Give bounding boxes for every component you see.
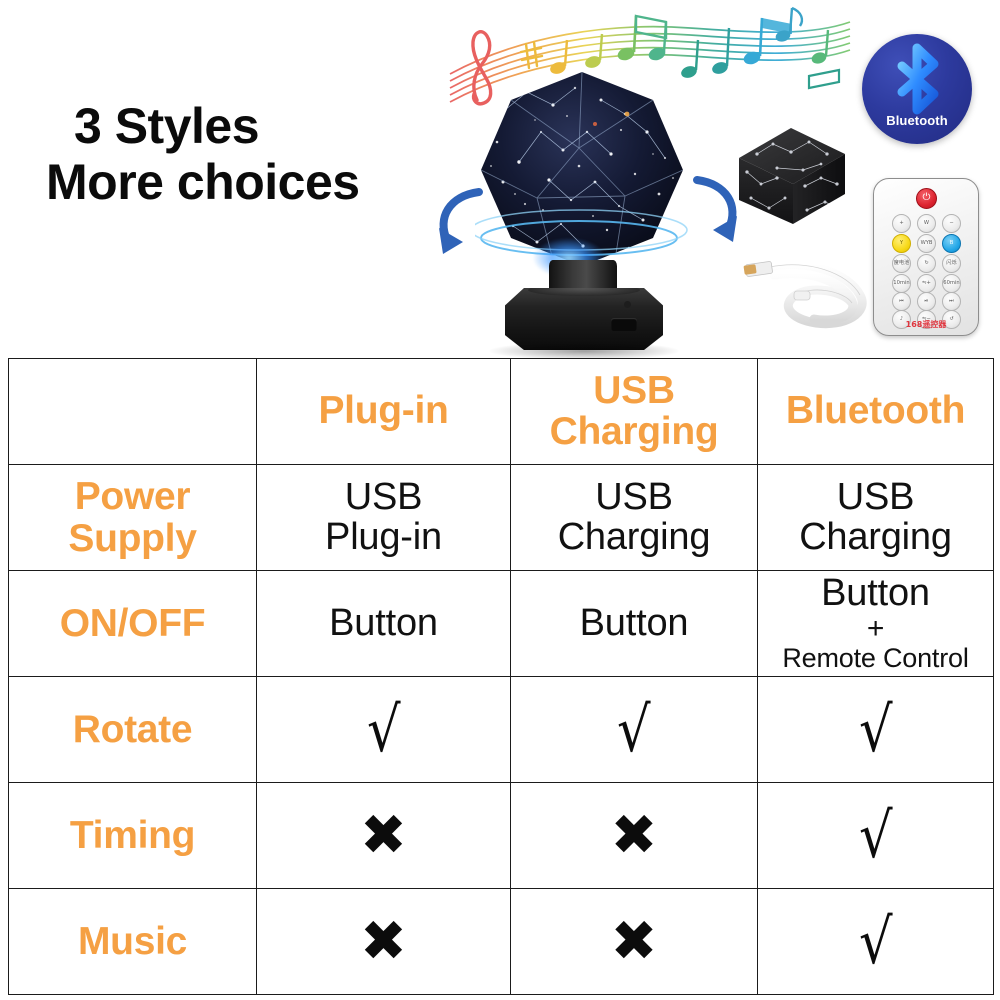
cell-rotate-usb-charging: √: [511, 677, 758, 783]
table-row: ON/OFF Button Button Button + Remote Con…: [9, 571, 994, 677]
cross-icon: ✖: [360, 914, 407, 970]
cross-icon: ✖: [360, 808, 407, 864]
cell-power-supply-usb-charging-line1: USB: [513, 478, 755, 518]
constellation-gift-box-image: [733, 124, 851, 230]
cell-on-off-plug-in: Button: [257, 571, 511, 677]
cell-on-off-bluetooth-line3: Remote Control: [760, 644, 991, 672]
remote-volume-up-button[interactable]: ⇋+: [917, 274, 936, 293]
bluetooth-badge: Bluetooth: [862, 34, 972, 144]
usb-cable-image: [740, 243, 888, 335]
cell-on-off-usb-charging: Button: [511, 571, 758, 677]
column-header-usb-charging-line2: Charging: [513, 412, 755, 452]
cell-power-supply-bluetooth-line1: USB: [760, 478, 991, 518]
cell-timing-plug-in: ✖: [257, 783, 511, 889]
column-header-plug-in-label: Plug-in: [318, 389, 448, 432]
cell-power-supply-bluetooth: USB Charging: [758, 465, 994, 571]
page-title: 3 Styles More choices: [46, 98, 446, 210]
row-header-music: Music: [9, 889, 257, 995]
check-icon: √: [859, 699, 893, 761]
cell-power-supply-plug-in: USB Plug-in: [257, 465, 511, 571]
remote-timer-60min-button[interactable]: 60min: [942, 274, 961, 293]
headline-line-2: More choices: [46, 154, 446, 210]
remote-mode-left-button[interactable]: 度电池: [892, 254, 911, 273]
rotate-arrow-left-icon: [433, 184, 499, 258]
remote-play-pause-button[interactable]: ⏯: [917, 292, 936, 311]
remote-plus-button[interactable]: +: [892, 214, 911, 233]
table-header-row: Plug-in USB Charging Bluetooth: [9, 359, 994, 465]
column-header-bluetooth-label: Bluetooth: [786, 389, 965, 432]
row-header-timing-label: Timing: [70, 814, 195, 857]
remote-mode-right-button[interactable]: 闪烁: [942, 254, 961, 273]
cell-power-supply-plug-in-line2: Plug-in: [259, 518, 508, 558]
lamp-base: [505, 288, 663, 350]
base-indicator-led: [624, 301, 631, 308]
bluetooth-badge-label: Bluetooth: [862, 113, 972, 128]
remote-previous-button[interactable]: ⏮: [892, 292, 911, 311]
cell-music-usb-charging: ✖: [511, 889, 758, 995]
remote-w-button[interactable]: W: [917, 214, 936, 233]
cell-timing-bluetooth: √: [758, 783, 994, 889]
remote-rotate-button[interactable]: ↻: [917, 254, 936, 273]
cross-icon: ✖: [611, 914, 658, 970]
cell-rotate-bluetooth: √: [758, 677, 994, 783]
remote-wyb-button[interactable]: WYB: [917, 234, 936, 253]
row-header-music-label: Music: [78, 920, 187, 963]
check-icon: √: [367, 699, 401, 761]
table-corner-cell: [9, 359, 257, 465]
row-header-timing: Timing: [9, 783, 257, 889]
column-header-usb-charging: USB Charging: [511, 359, 758, 465]
cross-icon: ✖: [611, 808, 658, 864]
column-header-bluetooth: Bluetooth: [758, 359, 994, 465]
cell-rotate-plug-in: √: [257, 677, 511, 783]
headline-line-1: 3 Styles: [46, 98, 446, 154]
remote-blue-button[interactable]: B: [942, 234, 961, 253]
row-header-on-off-label: ON/OFF: [60, 602, 206, 645]
remote-next-button[interactable]: ⏭: [942, 292, 961, 311]
cell-on-off-bluetooth: Button + Remote Control: [758, 571, 994, 677]
table-row: Timing ✖ ✖ √: [9, 783, 994, 889]
remote-minus-button[interactable]: −: [942, 214, 961, 233]
bluetooth-icon: [862, 40, 972, 118]
row-header-rotate: Rotate: [9, 677, 257, 783]
cell-on-off-usb-charging-label: Button: [580, 602, 689, 644]
table-row: Power Supply USB Plug-in USB Charging US…: [9, 465, 994, 571]
cell-power-supply-plug-in-line1: USB: [259, 478, 508, 518]
cell-music-plug-in: ✖: [257, 889, 511, 995]
cell-power-supply-usb-charging: USB Charging: [511, 465, 758, 571]
cell-timing-usb-charging: ✖: [511, 783, 758, 889]
remote-timer-10min-button[interactable]: 10min: [892, 274, 911, 293]
table-row: Music ✖ ✖ √: [9, 889, 994, 995]
row-header-rotate-label: Rotate: [73, 708, 193, 751]
table-row: Rotate √ √ √: [9, 677, 994, 783]
cell-music-bluetooth: √: [758, 889, 994, 995]
cell-on-off-bluetooth-line1: Button: [760, 574, 991, 614]
remote-control-image: ⏻ + W − Y WYB B 度电池 ↻ 闪烁 10min ⇋+ 60min …: [873, 178, 979, 336]
cell-power-supply-bluetooth-line2: Charging: [760, 518, 991, 558]
remote-yellow-button[interactable]: Y: [892, 234, 911, 253]
hero-banner: 3 Styles More choices: [0, 0, 1000, 358]
feature-comparison-table: Plug-in USB Charging Bluetooth Power Sup…: [8, 358, 994, 995]
check-icon: √: [617, 699, 651, 761]
column-header-usb-charging-line1: USB: [513, 371, 755, 411]
star-projector-lamp-image: [437, 60, 737, 360]
remote-power-button[interactable]: ⏻: [916, 188, 937, 209]
row-header-power-supply: Power Supply: [9, 465, 257, 571]
cell-on-off-bluetooth-line2: +: [760, 614, 991, 644]
row-header-on-off: ON/OFF: [9, 571, 257, 677]
row-header-power-supply-line1: Power: [11, 476, 254, 517]
check-icon: √: [859, 911, 893, 973]
base-usb-port: [611, 318, 637, 331]
remote-model-label: 168遥控器: [873, 319, 979, 330]
row-header-power-supply-line2: Supply: [11, 518, 254, 559]
column-header-plug-in: Plug-in: [257, 359, 511, 465]
cell-on-off-plug-in-label: Button: [329, 602, 438, 644]
check-icon: √: [859, 805, 893, 867]
cell-power-supply-usb-charging-line2: Charging: [513, 518, 755, 558]
